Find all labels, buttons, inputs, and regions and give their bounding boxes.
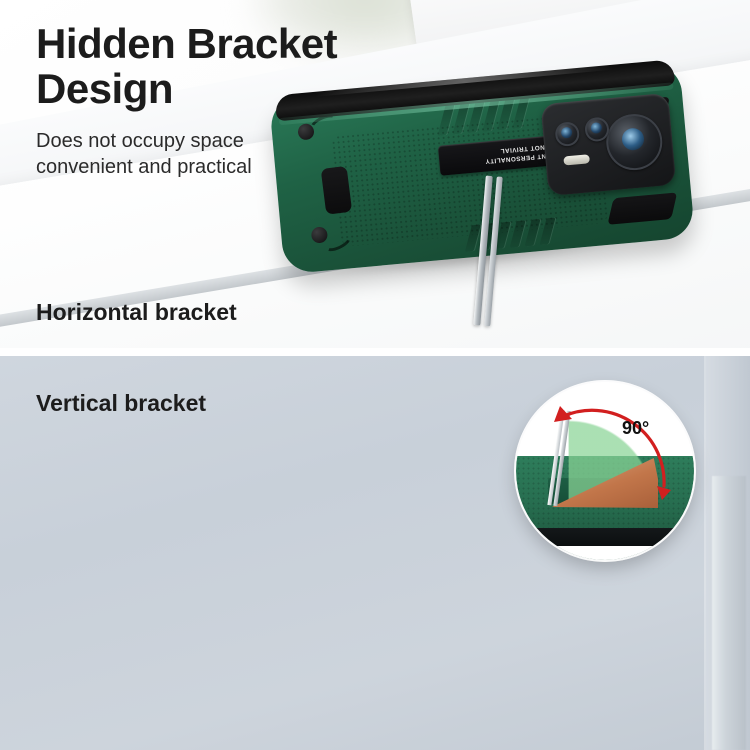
case-accent-panel-lower [607,192,677,224]
wall-corner-seam [704,356,706,750]
page-title: Hidden Bracket Design [36,22,466,111]
main-camera-lens [604,112,665,173]
page-subtitle: Does not occupy space convenient and pra… [36,128,436,181]
camera-module-top [540,93,676,196]
angle-value-label: 90° [622,418,649,439]
top-panel-horizontal-bracket: I WANT PERSONALITY NOT TRIVIAL [0,0,750,348]
vertical-bracket-label: Vertical bracket [36,390,206,417]
horizontal-bracket-label: Horizontal bracket [36,299,237,326]
panel-divider [0,348,750,356]
product-feature-image: I WANT PERSONALITY NOT TRIVIAL [0,0,750,750]
camera-flash [563,154,590,165]
curtain [712,476,746,750]
secondary-camera-lens [554,121,580,147]
angle-detail-callout: 90° [516,382,694,560]
angle-arrow-icon [516,382,694,560]
